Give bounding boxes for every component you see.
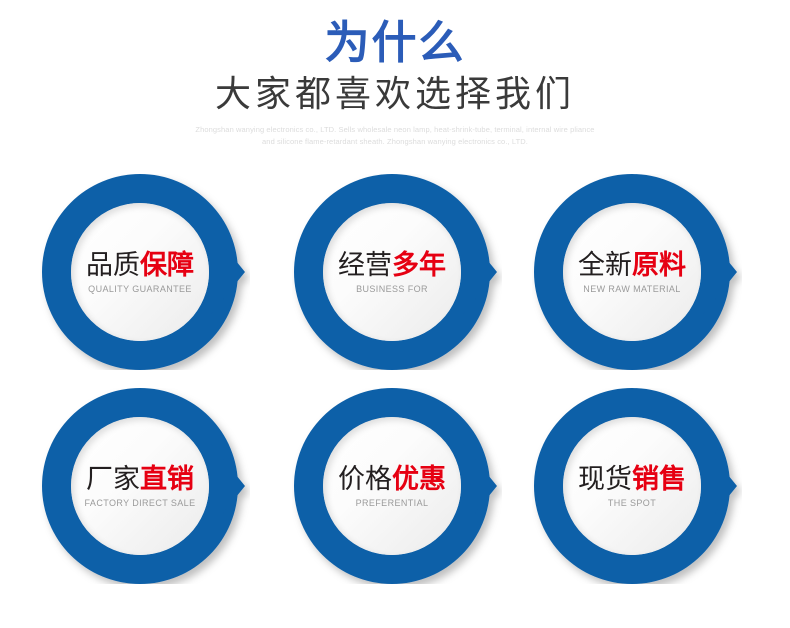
- badge-title: 厂家直销: [86, 464, 194, 494]
- badge-title-dark: 品质: [86, 250, 140, 280]
- badge-title-dark: 价格: [338, 464, 392, 494]
- badge-grid: 品质保障 QUALITY GUARANTEE 经营多年: [0, 170, 790, 590]
- badge-business-for[interactable]: 经营多年 BUSINESS FOR: [292, 174, 502, 370]
- badge-subtitle: BUSINESS FOR: [356, 284, 428, 295]
- badge-title-dark: 全新: [578, 250, 632, 280]
- company-description: Zhongshan wanying electronics co., LTD. …: [195, 124, 595, 148]
- badge-factory-direct-sale[interactable]: 厂家直销 FACTORY DIRECT SALE: [40, 388, 250, 584]
- badge-face: 现货销售 THE SPOT: [563, 417, 701, 555]
- badge-subtitle: PREFERENTIAL: [356, 498, 429, 509]
- badge-title: 价格优惠: [338, 464, 446, 494]
- badge-title-red: 保障: [140, 250, 194, 280]
- badge-title: 全新原料: [578, 250, 686, 280]
- badge-row-bottom: 厂家直销 FACTORY DIRECT SALE 价格优惠: [0, 388, 790, 588]
- badge-face: 厂家直销 FACTORY DIRECT SALE: [71, 417, 209, 555]
- page-subtitle: 大家都喜欢选择我们: [0, 74, 790, 114]
- badge-title-red: 销售: [632, 464, 686, 494]
- badge-face: 全新原料 NEW RAW MATERIAL: [563, 203, 701, 341]
- badge-title-red: 原料: [632, 250, 686, 280]
- badge-subtitle: NEW RAW MATERIAL: [583, 284, 680, 295]
- badge-quality-guarantee[interactable]: 品质保障 QUALITY GUARANTEE: [40, 174, 250, 370]
- badge-title-dark: 现货: [578, 464, 632, 494]
- badge-title-red: 多年: [392, 250, 446, 280]
- badge-title-red: 直销: [140, 464, 194, 494]
- badge-subtitle: QUALITY GUARANTEE: [88, 284, 192, 295]
- badge-title: 现货销售: [578, 464, 686, 494]
- badge-row-top: 品质保障 QUALITY GUARANTEE 经营多年: [0, 174, 790, 374]
- badge-the-spot[interactable]: 现货销售 THE SPOT: [532, 388, 742, 584]
- badge-face: 经营多年 BUSINESS FOR: [323, 203, 461, 341]
- badge-subtitle: FACTORY DIRECT SALE: [85, 498, 196, 509]
- badge-title-dark: 厂家: [86, 464, 140, 494]
- badge-title-red: 优惠: [392, 464, 446, 494]
- page-title: 为什么: [0, 18, 790, 68]
- badge-title-dark: 经营: [338, 250, 392, 280]
- badge-new-raw-material[interactable]: 全新原料 NEW RAW MATERIAL: [532, 174, 742, 370]
- badge-subtitle: THE SPOT: [608, 498, 656, 509]
- badge-face: 品质保障 QUALITY GUARANTEE: [71, 203, 209, 341]
- badge-face: 价格优惠 PREFERENTIAL: [323, 417, 461, 555]
- badge-preferential[interactable]: 价格优惠 PREFERENTIAL: [292, 388, 502, 584]
- badge-title: 经营多年: [338, 250, 446, 280]
- header: 为什么 大家都喜欢选择我们 Zhongshan wanying electron…: [0, 0, 790, 148]
- badge-title: 品质保障: [86, 250, 194, 280]
